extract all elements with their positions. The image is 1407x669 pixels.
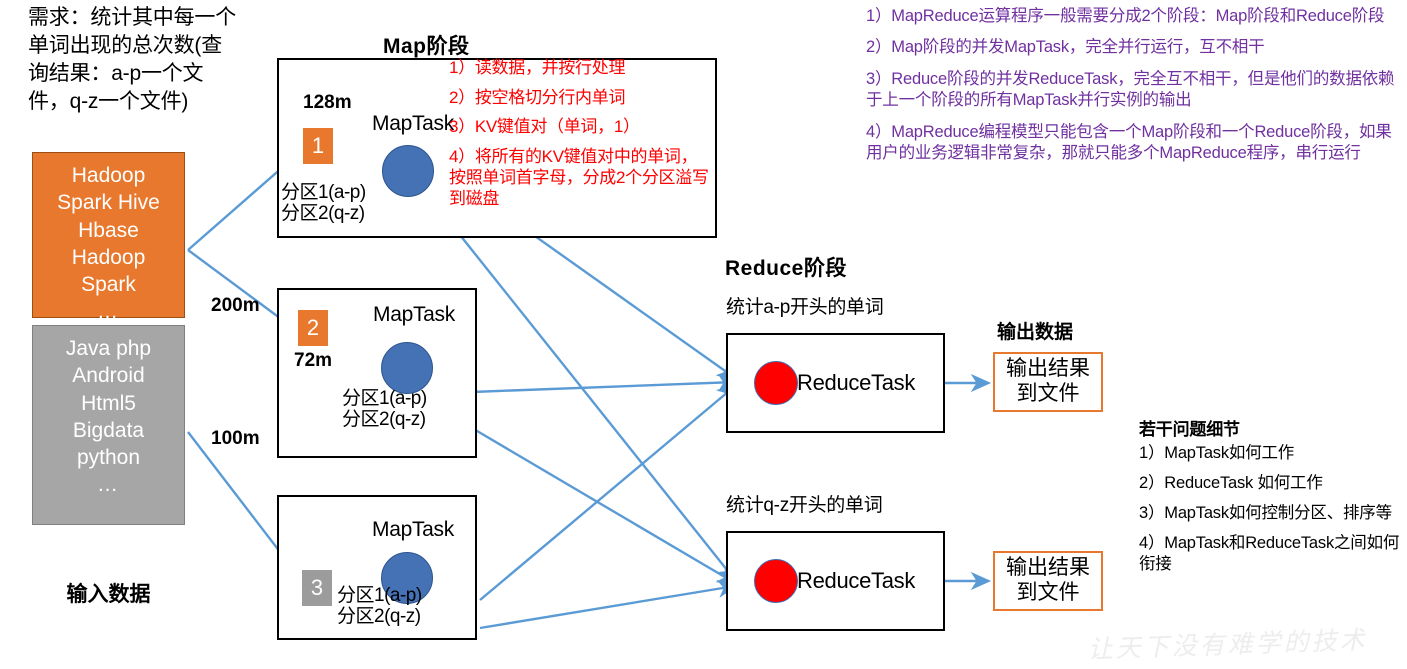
output-file-box-2: 输出结果 到文件: [993, 551, 1103, 611]
map-task-label-3: MapTask: [372, 518, 454, 542]
reduce-task-label-1: ReduceTask: [797, 370, 915, 396]
input-block-gray: Java php Android Html5 Bigdata python …: [32, 325, 185, 525]
note-item-3: 3）Reduce阶段的并发ReduceTask，完全互不相干，但是他们的数据依赖…: [866, 69, 1402, 112]
requirement-text: 需求：统计其中每一个单词出现的总次数(查询结果：a-p一个文件，q-z一个文件): [28, 4, 238, 116]
input-data-label: 输入数据: [32, 578, 185, 608]
map-red-step-1: 1）读数据，并按行处理: [449, 58, 711, 79]
note-item-1: 1）MapReduce运算程序一般需要分成2个阶段：Map阶段和Reduce阶段: [866, 6, 1402, 27]
map-red-step-3: 3）KV键值对（单词，1）: [449, 117, 711, 138]
reduce-caption-2: 统计q-z开头的单词: [726, 490, 882, 517]
question-item-3: 3）MapTask如何控制分区、排序等: [1139, 503, 1404, 524]
question-details-title: 若干问题细节: [1139, 419, 1404, 441]
map-partitions-2: 分区1(a-p) 分区2(q-z): [342, 388, 427, 431]
split-chunk-1: 1: [303, 128, 333, 164]
map-task-circle-1: [382, 145, 434, 197]
input-block-gray-dots: …: [33, 471, 184, 498]
map-stage-title: Map阶段: [383, 30, 470, 60]
map-partitions-1: 分区1(a-p) 分区2(q-z): [281, 182, 366, 225]
chunk-size-128m: 128m: [303, 92, 352, 114]
input-block-orange-lines: Hadoop Spark Hive Hbase Hadoop Spark: [33, 162, 184, 298]
note-item-2: 2）Map阶段的并发MapTask，完全并行运行，互不相干: [866, 37, 1402, 58]
reduce-task-label-2: ReduceTask: [797, 568, 915, 594]
map-task-label-2: MapTask: [373, 303, 455, 327]
input-block-orange: Hadoop Spark Hive Hbase Hadoop Spark …: [32, 152, 185, 318]
size-label-200m: 200m: [211, 295, 260, 317]
reduce-stage-title: Reduce阶段: [725, 252, 847, 282]
reduce-caption-1: 统计a-p开头的单词: [726, 292, 883, 319]
input-block-orange-dots: …: [33, 298, 184, 325]
reduce-task-circle-2: [754, 559, 798, 603]
map-task-circle-2: [381, 342, 433, 394]
map-red-steps: 1）读数据，并按行处理 2）按空格切分行内单词 3）KV键值对（单词，1） 4）…: [449, 58, 711, 209]
split-chunk-3: 3: [302, 570, 332, 606]
map-red-step-2: 2）按空格切分行内单词: [449, 88, 711, 109]
split-chunk-2: 2: [298, 310, 328, 346]
question-item-2: 2）ReduceTask 如何工作: [1139, 473, 1404, 494]
map-red-step-4: 4）将所有的KV键值对中的单词，按照单词首字母，分成2个分区溢写到磁盘: [449, 147, 711, 209]
size-label-100m: 100m: [211, 428, 260, 450]
reduce-task-circle-1: [754, 361, 798, 405]
output-data-label: 输出数据: [997, 317, 1073, 344]
note-item-4: 4）MapReduce编程模型只能包含一个Map阶段和一个Reduce阶段，如果…: [866, 122, 1402, 165]
input-block-gray-lines: Java php Android Html5 Bigdata python: [33, 335, 184, 471]
map-partitions-3: 分区1(a-p) 分区2(q-z): [337, 585, 422, 628]
question-item-1: 1）MapTask如何工作: [1139, 443, 1404, 464]
output-file-box-1: 输出结果 到文件: [993, 352, 1103, 412]
chunk-size-72m: 72m: [294, 350, 332, 372]
map-task-label-1: MapTask: [372, 112, 454, 136]
question-item-4: 4）MapTask和ReduceTask之间如何衔接: [1139, 533, 1404, 575]
watermark-text: 让天下没有难学的技术: [1087, 620, 1368, 666]
question-details-list: 若干问题细节 1）MapTask如何工作 2）ReduceTask 如何工作 3…: [1139, 419, 1404, 575]
mapreduce-notes: 1）MapReduce运算程序一般需要分成2个阶段：Map阶段和Reduce阶段…: [866, 6, 1402, 165]
